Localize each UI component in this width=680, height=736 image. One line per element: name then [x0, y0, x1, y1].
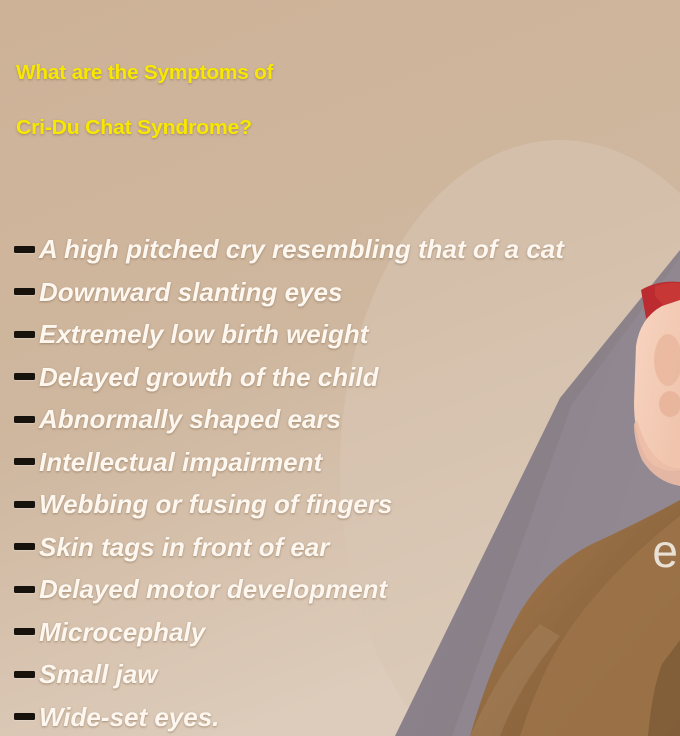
- symptom-label: Downward slanting eyes: [39, 277, 342, 307]
- dash-bullet-icon: [14, 713, 35, 720]
- dash-bullet-icon: [14, 543, 35, 550]
- list-item: Webbing or fusing of fingers: [14, 483, 674, 526]
- symptom-label: Delayed motor development: [39, 574, 387, 604]
- list-item: Microcephaly: [14, 611, 674, 654]
- dash-bullet-icon: [14, 416, 35, 423]
- symptom-label: Small jaw: [39, 659, 158, 689]
- title-line-2: Cri-Du Chat Syndrome?: [16, 101, 680, 156]
- infographic-canvas: e What are the Symptoms of Cri-Du Chat S…: [0, 0, 680, 736]
- symptom-list: A high pitched cry resembling that of a …: [14, 228, 674, 736]
- dash-bullet-icon: [14, 671, 35, 678]
- page-title: What are the Symptoms of Cri-Du Chat Syn…: [16, 46, 664, 156]
- symptom-label: Extremely low birth weight: [39, 319, 368, 349]
- list-item: Small jaw: [14, 653, 674, 696]
- symptom-label: Wide-set eyes.: [39, 702, 219, 732]
- symptom-label: Delayed growth of the child: [39, 362, 378, 392]
- dash-bullet-icon: [14, 628, 35, 635]
- list-item: Extremely low birth weight: [14, 313, 674, 356]
- list-item: Delayed growth of the child: [14, 356, 674, 399]
- dash-bullet-icon: [14, 331, 35, 338]
- symptom-label: Skin tags in front of ear: [39, 532, 329, 562]
- title-line-1: What are the Symptoms of: [16, 46, 680, 101]
- content-layer: What are the Symptoms of Cri-Du Chat Syn…: [0, 0, 680, 736]
- dash-bullet-icon: [14, 246, 35, 253]
- list-item: Skin tags in front of ear: [14, 526, 674, 569]
- list-item: Wide-set eyes.: [14, 696, 674, 736]
- symptom-label: Abnormally shaped ears: [39, 404, 341, 434]
- symptom-label: Intellectual impairment: [39, 447, 322, 477]
- symptom-label: Microcephaly: [39, 617, 205, 647]
- dash-bullet-icon: [14, 501, 35, 508]
- dash-bullet-icon: [14, 373, 35, 380]
- dash-bullet-icon: [14, 288, 35, 295]
- dash-bullet-icon: [14, 586, 35, 593]
- dash-bullet-icon: [14, 458, 35, 465]
- symptom-label: Webbing or fusing of fingers: [39, 489, 392, 519]
- list-item: Intellectual impairment: [14, 441, 674, 484]
- list-item: Delayed motor development: [14, 568, 674, 611]
- symptom-label: A high pitched cry resembling that of a …: [39, 234, 564, 264]
- list-item: A high pitched cry resembling that of a …: [14, 228, 674, 271]
- list-item: Abnormally shaped ears: [14, 398, 674, 441]
- list-item: Downward slanting eyes: [14, 271, 674, 314]
